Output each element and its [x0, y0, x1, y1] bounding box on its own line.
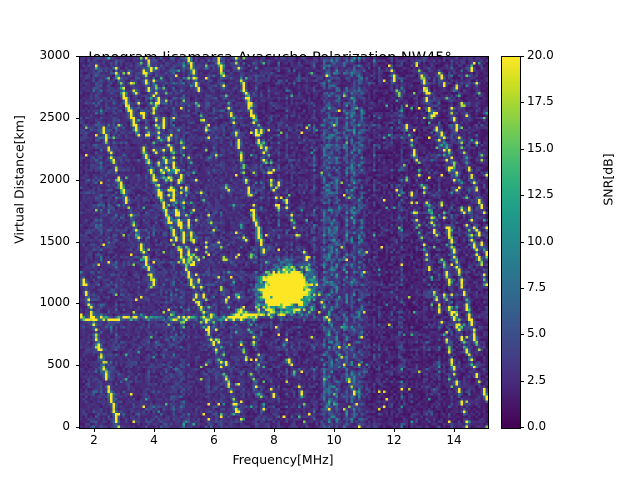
colorbar-tick-mark: [521, 288, 525, 289]
x-tick-label: 14: [434, 433, 474, 447]
y-tick-label: 3000: [0, 48, 70, 62]
colorbar-tick-label: 5.0: [527, 326, 546, 340]
ionogram-heatmap: [80, 57, 488, 428]
colorbar-label: SNR[dB]: [601, 110, 616, 250]
colorbar-tick-label: 20.0: [527, 48, 554, 62]
colorbar-tick-mark: [521, 56, 525, 57]
colorbar-tick-label: 12.5: [527, 187, 554, 201]
y-tick-mark: [76, 242, 80, 243]
x-tick-label: 6: [194, 433, 234, 447]
colorbar-tick-label: 15.0: [527, 141, 554, 155]
colorbar-tick-label: 2.5: [527, 373, 546, 387]
colorbar-gradient: [502, 57, 520, 428]
y-tick-mark: [76, 365, 80, 366]
x-tick-label: 2: [74, 433, 114, 447]
y-tick-label: 0: [0, 419, 70, 433]
y-tick-mark: [76, 427, 80, 428]
colorbar-tick-mark: [521, 334, 525, 335]
colorbar-tick-label: 7.5: [527, 280, 546, 294]
ionogram-figure: Ionogram Jicamarca-Ayacucho Polarization…: [0, 0, 640, 480]
y-tick-mark: [76, 180, 80, 181]
x-tick-label: 8: [254, 433, 294, 447]
colorbar-tick-mark: [521, 381, 525, 382]
x-tick-mark: [334, 428, 335, 432]
x-tick-mark: [214, 428, 215, 432]
x-tick-mark: [454, 428, 455, 432]
y-tick-label: 1500: [0, 234, 70, 248]
y-tick-mark: [76, 118, 80, 119]
colorbar-tick-mark: [521, 427, 525, 428]
y-tick-label: 1000: [0, 295, 70, 309]
colorbar-tick-mark: [521, 149, 525, 150]
x-tick-label: 4: [134, 433, 174, 447]
y-tick-mark: [76, 56, 80, 57]
colorbar-tick-label: 17.5: [527, 94, 554, 108]
colorbar-tick-label: 10.0: [527, 234, 554, 248]
x-tick-label: 12: [374, 433, 414, 447]
y-tick-label: 2500: [0, 110, 70, 124]
y-tick-label: 2000: [0, 172, 70, 186]
colorbar-tick-label: 0.0: [527, 419, 546, 433]
colorbar-tick-mark: [521, 195, 525, 196]
y-tick-mark: [76, 303, 80, 304]
x-tick-mark: [154, 428, 155, 432]
colorbar: [501, 56, 521, 429]
plot-area: [79, 56, 489, 429]
y-axis-label: Virtual Distance[km]: [12, 110, 27, 250]
y-tick-label: 500: [0, 357, 70, 371]
colorbar-tick-mark: [521, 102, 525, 103]
x-tick-label: 10: [314, 433, 354, 447]
x-tick-mark: [274, 428, 275, 432]
x-axis-label: Frequency[MHz]: [79, 452, 487, 467]
x-tick-mark: [94, 428, 95, 432]
x-tick-mark: [394, 428, 395, 432]
colorbar-tick-mark: [521, 242, 525, 243]
